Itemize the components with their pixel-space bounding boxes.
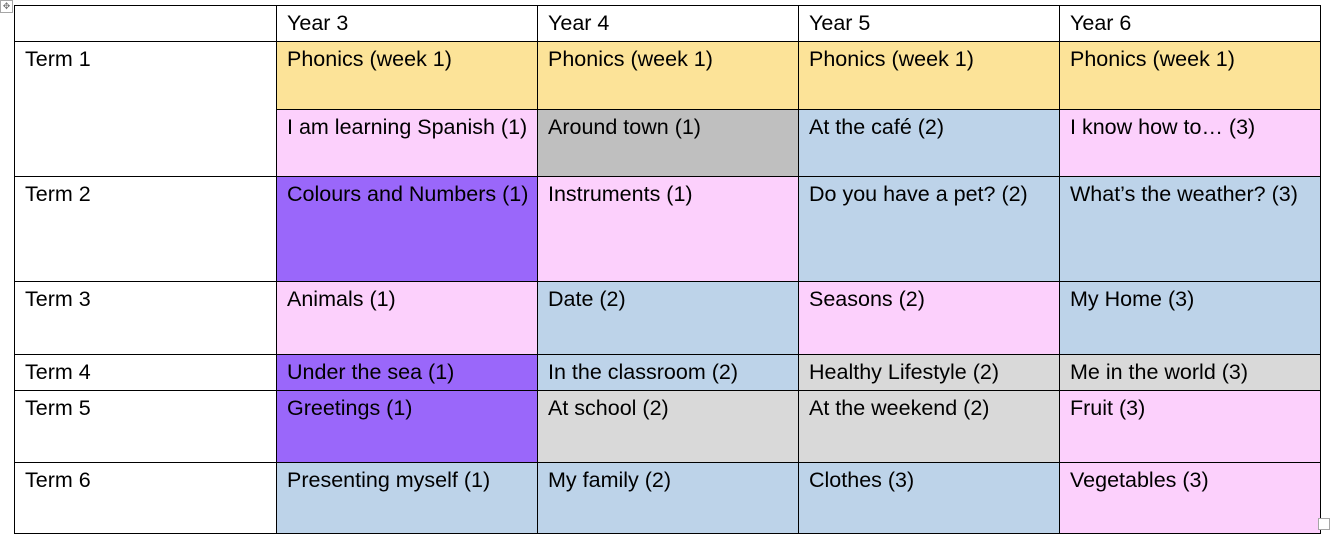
cell-term-1-topic-year-6[interactable]: I know how to… (3) (1060, 110, 1321, 177)
cell-term-2-year-3[interactable]: Colours and Numbers (1) (277, 177, 538, 282)
cell-term-6-year-4[interactable]: My family (2) (538, 462, 799, 533)
cell-term-4-year-6[interactable]: Me in the world (3) (1060, 355, 1321, 391)
cell-term-3-year-6[interactable]: My Home (3) (1060, 282, 1321, 355)
cell-term-5-year-5[interactable]: At the weekend (2) (799, 390, 1060, 462)
header-corner-cell (15, 6, 277, 42)
cell-term-3-year-3[interactable]: Animals (1) (277, 282, 538, 355)
cell-term-2-year-6[interactable]: What’s the weather? (3) (1060, 177, 1321, 282)
table-row-term-2: Term 2 Colours and Numbers (1) Instrumen… (15, 177, 1321, 282)
cell-term-6-year-5[interactable]: Clothes (3) (799, 462, 1060, 533)
table-row-term-6: Term 6 Presenting myself (1) My family (… (15, 462, 1321, 533)
table-header-row: Year 3 Year 4 Year 5 Year 6 (15, 6, 1321, 42)
cell-term-5-year-4[interactable]: At school (2) (538, 390, 799, 462)
term-label-term-1: Term 1 (15, 42, 277, 177)
table-row-term-4: Term 4 Under the sea (1) In the classroo… (15, 355, 1321, 391)
cell-term-5-year-3[interactable]: Greetings (1) (277, 390, 538, 462)
table-move-handle[interactable]: ✥ (0, 0, 13, 13)
cell-term-2-year-5[interactable]: Do you have a pet? (2) (799, 177, 1060, 282)
cell-term-1-phonics-year-3[interactable]: Phonics (week 1) (277, 42, 538, 110)
cell-term-4-year-5[interactable]: Healthy Lifestyle (2) (799, 355, 1060, 391)
cell-term-2-year-4[interactable]: Instruments (1) (538, 177, 799, 282)
header-cell-year-3: Year 3 (277, 6, 538, 42)
cell-term-1-topic-year-3[interactable]: I am learning Spanish (1) (277, 110, 538, 177)
cell-term-4-year-4[interactable]: In the classroom (2) (538, 355, 799, 391)
term-label-term-2: Term 2 (15, 177, 277, 282)
cell-term-4-year-3[interactable]: Under the sea (1) (277, 355, 538, 391)
table-row-term-1-phonics: Term 1 Phonics (week 1) Phonics (week 1)… (15, 42, 1321, 110)
cell-term-1-topic-year-4[interactable]: Around town (1) (538, 110, 799, 177)
cell-term-6-year-3[interactable]: Presenting myself (1) (277, 462, 538, 533)
header-cell-year-5: Year 5 (799, 6, 1060, 42)
cell-term-6-year-6[interactable]: Vegetables (3) (1060, 462, 1321, 533)
header-cell-year-6: Year 6 (1060, 6, 1321, 42)
table-row-term-3: Term 3 Animals (1) Date (2) Seasons (2) … (15, 282, 1321, 355)
term-label-term-5: Term 5 (15, 390, 277, 462)
cell-term-1-phonics-year-5[interactable]: Phonics (week 1) (799, 42, 1060, 110)
cell-term-3-year-4[interactable]: Date (2) (538, 282, 799, 355)
cell-term-1-phonics-year-4[interactable]: Phonics (week 1) (538, 42, 799, 110)
cell-term-1-phonics-year-6[interactable]: Phonics (week 1) (1060, 42, 1321, 110)
cell-term-5-year-6[interactable]: Fruit (3) (1060, 390, 1321, 462)
table-row-term-5: Term 5 Greetings (1) At school (2) At th… (15, 390, 1321, 462)
term-label-term-3: Term 3 (15, 282, 277, 355)
table-resize-handle[interactable] (1318, 518, 1330, 530)
cell-term-1-topic-year-5[interactable]: At the café (2) (799, 110, 1060, 177)
header-cell-year-4: Year 4 (538, 6, 799, 42)
term-label-term-6: Term 6 (15, 462, 277, 533)
curriculum-overview-table: Year 3 Year 4 Year 5 Year 6 Term 1 Phoni… (14, 5, 1321, 534)
cell-term-3-year-5[interactable]: Seasons (2) (799, 282, 1060, 355)
term-label-term-4: Term 4 (15, 355, 277, 391)
